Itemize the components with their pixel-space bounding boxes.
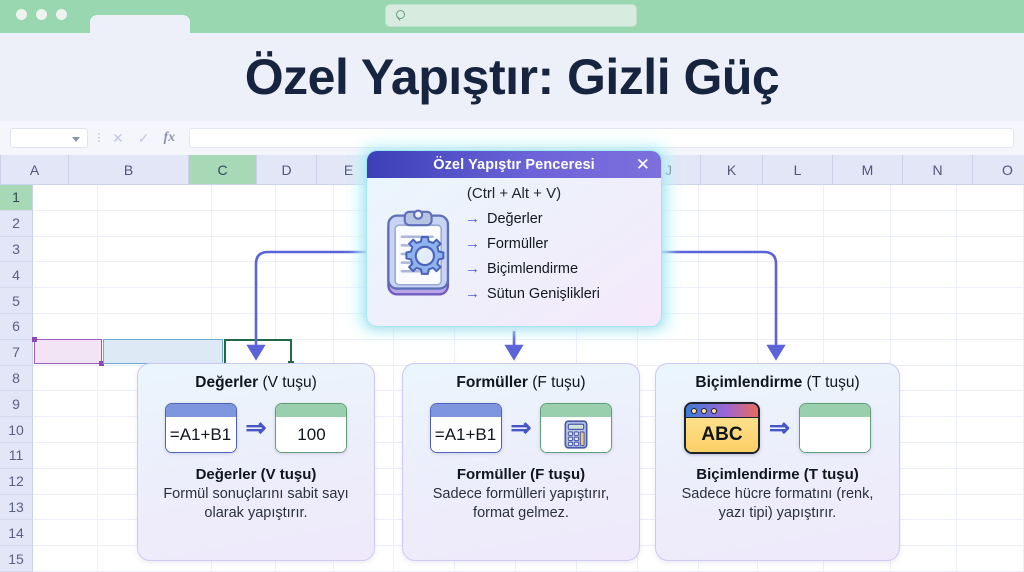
dialog-option-2[interactable]: →Biçimlendirme [465, 256, 651, 281]
grid-cell-O1[interactable] [957, 185, 1024, 211]
grid-cell-O9[interactable] [957, 391, 1024, 417]
grid-cell-A3[interactable] [33, 237, 98, 263]
row-header-5[interactable]: 5 [0, 288, 33, 314]
grid-cell-O11[interactable] [957, 443, 1024, 469]
mini-cell-green [799, 403, 871, 453]
row-header-10[interactable]: 10 [0, 417, 33, 443]
grid-cell-O4[interactable] [957, 262, 1024, 288]
grid-cell-L3[interactable] [758, 237, 825, 263]
chevron-down-icon[interactable] [72, 137, 80, 142]
mini-cell-header [800, 404, 870, 417]
window-dot-icon [691, 408, 697, 414]
grid-cell-N12[interactable] [891, 469, 958, 495]
arrow-right-icon: → [465, 261, 480, 276]
more-options-icon[interactable]: ⋮ [92, 136, 106, 140]
row-header-1[interactable]: 1 [0, 185, 33, 211]
row-header-9[interactable]: 9 [0, 391, 33, 417]
grid-cell-B6[interactable] [98, 314, 212, 340]
title-band: Özel Yapıştır: Gizli Güç [0, 33, 1024, 121]
mini-cell-blue: =A1+B1 [430, 403, 502, 453]
function-icon[interactable]: fx [163, 130, 175, 146]
grid-cell-A13[interactable] [33, 495, 98, 521]
grid-cell-N10[interactable] [891, 417, 958, 443]
card-heading-bold: Formüller [456, 374, 527, 391]
arrow-right-icon: → [465, 286, 480, 301]
grid-cell-L1[interactable] [758, 185, 825, 211]
grid-cell-J7[interactable] [638, 340, 699, 366]
grid-cell-B2[interactable] [98, 211, 212, 237]
grid-cell-H7[interactable] [516, 340, 577, 366]
dialog-options-list: →Değerler→Formüller→Biçimlendirme→Sütun … [465, 204, 651, 306]
dialog-option-label: Sütun Genişlikleri [487, 286, 600, 302]
card-heading-bold: Değerler [195, 374, 258, 391]
dialog-option-3[interactable]: →Sütun Genişlikleri [465, 281, 651, 306]
dialog-shortcut: (Ctrl + Alt + V) [367, 185, 661, 202]
grid-cell-M3[interactable] [824, 237, 891, 263]
grid-cell-M7[interactable] [824, 340, 891, 366]
grid-cell-L7[interactable] [758, 340, 825, 366]
column-header-a[interactable]: A [1, 155, 69, 185]
dialog-titlebar: Özel Yapıştır Penceresi ✕ [367, 151, 661, 178]
column-header-l[interactable]: L [763, 155, 833, 185]
card-footer-title: Formüller (F tuşu) [415, 466, 627, 483]
grid-cell-N3[interactable] [891, 237, 958, 263]
dialog-option-label: Değerler [487, 211, 543, 227]
abc-label: ABC [686, 418, 758, 452]
mini-cell-value [800, 417, 870, 452]
card-heading-rest: (F tuşu) [528, 374, 586, 391]
window-controls [16, 9, 67, 20]
column-header-c[interactable]: C [189, 155, 257, 185]
close-icon[interactable]: ✕ [636, 155, 650, 174]
card-visual: =A1+B1⇒ [403, 398, 639, 458]
grid-cell-N11[interactable] [891, 443, 958, 469]
arrow-right-icon: ⇒ [769, 416, 790, 441]
window-dot-icon [711, 408, 717, 414]
grid-cell-D3[interactable] [276, 237, 333, 263]
card-footer-title: Değerler (V tuşu) [150, 466, 362, 483]
mini-cell-value: =A1+B1 [431, 417, 501, 452]
card-heading: Formüller (F tuşu) [403, 374, 639, 392]
column-header-o[interactable]: O [973, 155, 1024, 185]
row-header-2[interactable]: 2 [0, 211, 33, 237]
grid-cell-A15[interactable] [33, 546, 98, 572]
minimize-dot-icon[interactable] [36, 9, 47, 20]
dialog-option-1[interactable]: →Formüller [465, 231, 651, 256]
grid-cell-N2[interactable] [891, 211, 958, 237]
page-title: Özel Yapıştır: Gizli Güç [245, 48, 779, 106]
grid-cell-C6[interactable] [212, 314, 277, 340]
range-cell-b1[interactable] [103, 339, 223, 364]
arrow-right-icon: → [465, 236, 480, 251]
card-footer: Biçimlendirme (T tuşu)Sadece hücre forma… [656, 466, 899, 523]
search-icon [396, 10, 407, 21]
grid-cell-N4[interactable] [891, 262, 958, 288]
browser-tab[interactable] [90, 15, 190, 35]
grid-cell-O10[interactable] [957, 417, 1024, 443]
grid-cell-O13[interactable] [957, 495, 1024, 521]
row-header-8[interactable]: 8 [0, 366, 33, 392]
card-footer-desc: Sadece hücre formatını (renk, yazı tipi)… [668, 485, 887, 523]
grid-cell-A9[interactable] [33, 391, 98, 417]
grid-cell-M4[interactable] [824, 262, 891, 288]
window-titlebar [686, 404, 758, 418]
grid-cell-C1[interactable] [212, 185, 277, 211]
grid-cell-B4[interactable] [98, 262, 212, 288]
grid-cell-B5[interactable] [98, 288, 212, 314]
mini-cell-green [540, 403, 612, 453]
clipboard-gear-icon [379, 206, 465, 308]
grid-cell-B3[interactable] [98, 237, 212, 263]
mini-cell-header [431, 404, 501, 417]
mini-cell-blue: =A1+B1 [165, 403, 237, 453]
grid-cell-K7[interactable] [699, 340, 758, 366]
grid-cell-O15[interactable] [957, 546, 1024, 572]
grid-cell-K4[interactable] [699, 262, 758, 288]
grid-cell-A14[interactable] [33, 520, 98, 546]
grid-cell-B1[interactable] [98, 185, 212, 211]
row-header-6[interactable]: 6 [0, 314, 33, 340]
grid-cell-K3[interactable] [699, 237, 758, 263]
paste-special-dialog: Özel Yapıştır Penceresi ✕ (Ctrl + Alt + … [366, 150, 662, 327]
grid-cell-C3[interactable] [212, 237, 277, 263]
grid-cell-A12[interactable] [33, 469, 98, 495]
card-footer: Değerler (V tuşu)Formül sonuçlarını sabi… [138, 466, 374, 523]
grid-cell-E7[interactable] [334, 340, 395, 366]
dialog-option-0[interactable]: →Değerler [465, 206, 651, 231]
dialog-option-label: Formüller [487, 236, 548, 252]
window-dot-icon [701, 408, 707, 414]
card-heading: Değerler (V tuşu) [138, 374, 374, 392]
grid-cell-L6[interactable] [758, 314, 825, 340]
row-header-11[interactable]: 11 [0, 443, 33, 469]
row-header-3[interactable]: 3 [0, 237, 33, 263]
grid-cell-O7[interactable] [957, 340, 1024, 366]
grid-cell-K5[interactable] [699, 288, 758, 314]
grid-cell-A1[interactable] [33, 185, 98, 211]
name-box-input[interactable] [10, 128, 88, 148]
grid-cell-N13[interactable] [891, 495, 958, 521]
grid-cell-O2[interactable] [957, 211, 1024, 237]
browser-titlebar [0, 0, 1024, 33]
mini-cell-value: =A1+B1 [166, 417, 236, 452]
card-footer: Formüller (F tuşu)Sadece formülleri yapı… [403, 466, 639, 523]
column-header-b[interactable]: B [69, 155, 189, 185]
card-heading: Biçimlendirme (T tuşu) [656, 374, 899, 392]
card-footer-desc: Formül sonuçlarını sabit sayı olarak yap… [150, 485, 362, 523]
column-header-n[interactable]: N [903, 155, 973, 185]
mini-cell-value: 100 [276, 417, 346, 452]
mini-cell-header [166, 404, 236, 417]
calculator-icon [541, 417, 611, 452]
grid-cell-F7[interactable] [394, 340, 455, 366]
grid-cell-M5[interactable] [824, 288, 891, 314]
grid-cell-O5[interactable] [957, 288, 1024, 314]
arrow-right-icon: ⇒ [511, 416, 532, 441]
dialog-option-label: Biçimlendirme [487, 261, 578, 277]
search-input[interactable] [385, 4, 637, 27]
mini-cell-green: 100 [275, 403, 347, 453]
card-visual: ABC⇒ [656, 398, 899, 458]
grid-cell-A11[interactable] [33, 443, 98, 469]
card-visual: =A1+B1⇒100 [138, 398, 374, 458]
confirm-icon[interactable]: ✓ [138, 130, 150, 147]
format-window-icon: ABC [684, 402, 760, 454]
grid-cell-K1[interactable] [699, 185, 758, 211]
maximize-dot-icon[interactable] [56, 9, 67, 20]
card-heading-rest: (T tuşu) [802, 374, 859, 391]
copied-cell-a1[interactable] [34, 339, 102, 364]
grid-cell-O14[interactable] [957, 520, 1024, 546]
grid-cell-N6[interactable] [891, 314, 958, 340]
grid-cell-L2[interactable] [758, 211, 825, 237]
grid-cell-N8[interactable] [891, 366, 958, 392]
grid-cell-G7[interactable] [455, 340, 516, 366]
grid-cell-N1[interactable] [891, 185, 958, 211]
card-heading-bold: Biçimlendirme [695, 374, 802, 391]
grid-cell-C5[interactable] [212, 288, 277, 314]
grid-cell-M6[interactable] [824, 314, 891, 340]
grid-cell-K6[interactable] [699, 314, 758, 340]
grid-cell-C4[interactable] [212, 262, 277, 288]
select-all-corner[interactable] [0, 155, 1, 185]
grid-cell-D1[interactable] [276, 185, 333, 211]
row-header-14[interactable]: 14 [0, 520, 33, 546]
grid-cell-O8[interactable] [957, 366, 1024, 392]
grid-cell-M1[interactable] [824, 185, 891, 211]
grid-cell-N7[interactable] [891, 340, 958, 366]
grid-cell-A8[interactable] [33, 366, 98, 392]
grid-cell-K2[interactable] [699, 211, 758, 237]
column-header-m[interactable]: M [833, 155, 903, 185]
grid-cell-A5[interactable] [33, 288, 98, 314]
grid-cell-N15[interactable] [891, 546, 958, 572]
close-dot-icon[interactable] [16, 9, 27, 20]
grid-cell-I7[interactable] [577, 340, 638, 366]
row-header-13[interactable]: 13 [0, 495, 33, 521]
grid-cell-A10[interactable] [33, 417, 98, 443]
grid-cell-O3[interactable] [957, 237, 1024, 263]
row-header-15[interactable]: 15 [0, 546, 33, 572]
row-header-4[interactable]: 4 [0, 262, 33, 288]
column-header-d[interactable]: D [257, 155, 317, 185]
grid-cell-A6[interactable] [33, 314, 98, 340]
grid-cell-N14[interactable] [891, 520, 958, 546]
grid-cell-A2[interactable] [33, 211, 98, 237]
grid-cell-C2[interactable] [212, 211, 277, 237]
grid-cell-L4[interactable] [758, 262, 825, 288]
mini-cell-header [541, 404, 611, 417]
grid-cell-L5[interactable] [758, 288, 825, 314]
card-formuller: Formüller (F tuşu)=A1+B1⇒Formüller (F tu… [402, 363, 640, 561]
card-footer-title: Biçimlendirme (T tuşu) [668, 466, 887, 483]
grid-cell-A4[interactable] [33, 262, 98, 288]
arrow-right-icon: → [465, 211, 480, 226]
grid-cell-D5[interactable] [276, 288, 333, 314]
card-heading-rest: (V tuşu) [258, 374, 317, 391]
row-header-12[interactable]: 12 [0, 469, 33, 495]
dialog-title: Özel Yapıştır Penceresi [433, 157, 595, 173]
card-degerler: Değerler (V tuşu)=A1+B1⇒100Değerler (V t… [137, 363, 375, 561]
mini-cell-header [276, 404, 346, 417]
active-cell-c1[interactable] [224, 339, 292, 365]
card-footer-desc: Sadece formülleri yapıştırır, format gel… [415, 485, 627, 523]
row-header-7[interactable]: 7 [0, 340, 33, 366]
grid-cell-O6[interactable] [957, 314, 1024, 340]
grid-cell-O12[interactable] [957, 469, 1024, 495]
grid-cell-M2[interactable] [824, 211, 891, 237]
row-header-column: 123456789101112131415 [0, 185, 33, 572]
column-header-k[interactable]: K [701, 155, 763, 185]
grid-cell-D2[interactable] [276, 211, 333, 237]
card-bicimlendirme: Biçimlendirme (T tuşu)ABC⇒Biçimlendirme … [655, 363, 900, 561]
cancel-icon[interactable]: ✕ [112, 130, 124, 147]
grid-cell-N5[interactable] [891, 288, 958, 314]
grid-cell-D6[interactable] [276, 314, 333, 340]
app-root: Özel Yapıştır: Gizli Güç ⋮ ✕ ✓ fx ABCDEF… [0, 0, 1024, 572]
arrow-right-icon: ⇒ [246, 416, 267, 441]
grid-cell-N9[interactable] [891, 391, 958, 417]
grid-cell-D4[interactable] [276, 262, 333, 288]
